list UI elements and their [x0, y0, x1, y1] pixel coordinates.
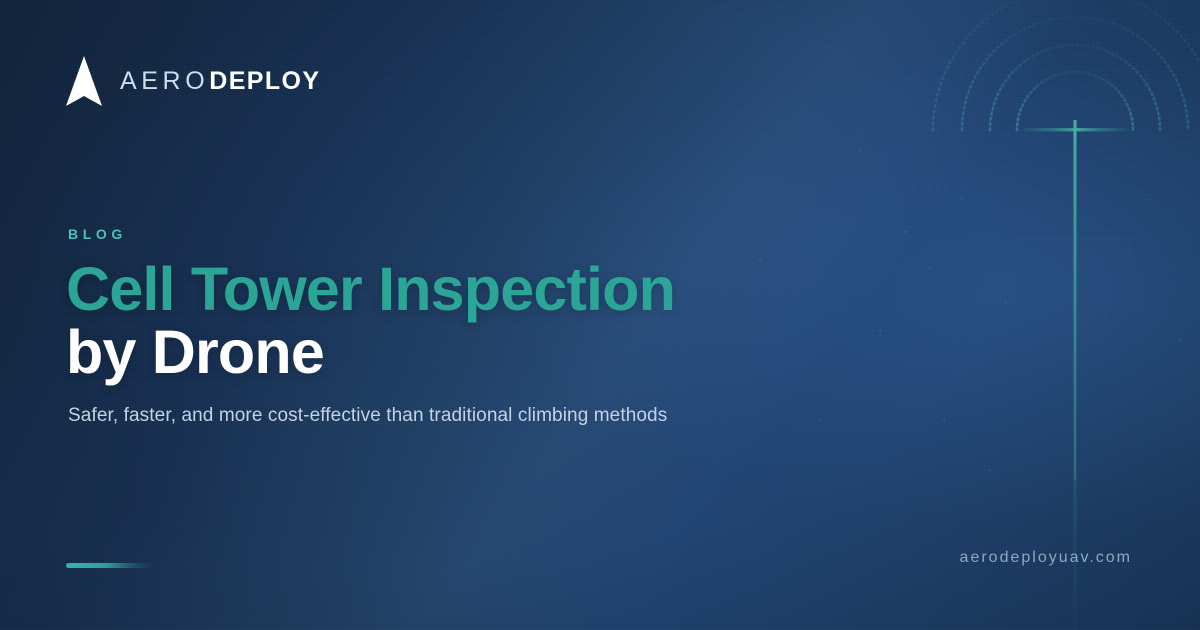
brand-name-bold: DEPLOY — [209, 69, 320, 94]
page-title: Cell Tower Inspection by Drone — [66, 258, 926, 384]
accent-bar — [66, 563, 154, 568]
headline-line-1: Cell Tower Inspection — [66, 258, 926, 321]
category-eyebrow: BLOG — [68, 226, 127, 242]
page-subtitle: Safer, faster, and more cost-effective t… — [68, 405, 667, 427]
headline-line-2: by Drone — [66, 321, 926, 384]
arrow-up-navigation-icon — [66, 56, 102, 106]
site-url: aerodeployuav.com — [960, 549, 1132, 567]
brand-name-light: AERO — [120, 69, 209, 94]
brand-wordmark: AERO DEPLOY — [120, 69, 320, 94]
social-share-card: 0% — [0, 0, 1200, 630]
brand-logo[interactable]: AERO DEPLOY — [66, 56, 320, 106]
